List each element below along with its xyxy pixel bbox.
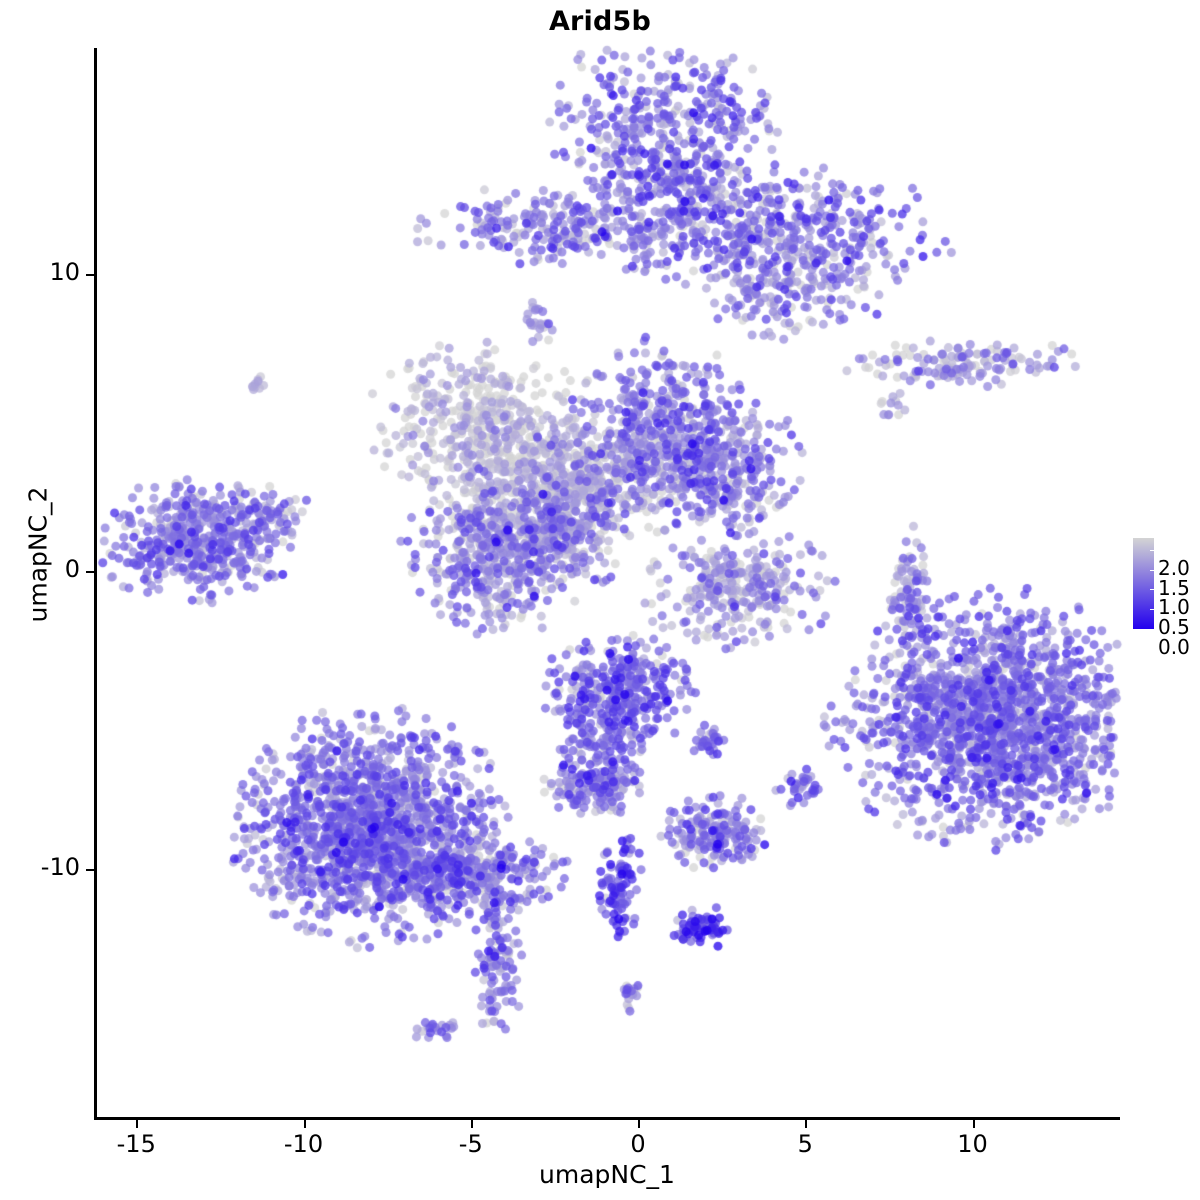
x-tick-mark [973, 1120, 975, 1128]
umap-feature-plot: Arid5b -15-10-50510 100-10 umapNC_1 umap… [0, 0, 1200, 1200]
x-tick-label: 0 [598, 1130, 678, 1158]
legend-tick-mark [1150, 570, 1155, 571]
x-tick-mark [638, 1120, 640, 1128]
plot-panel [94, 48, 1120, 1118]
color-legend[interactable]: 2.01.51.00.50.0 [1128, 536, 1200, 636]
x-tick-label: -15 [96, 1130, 176, 1158]
x-tick-label: 10 [933, 1130, 1013, 1158]
x-tick-mark [805, 1120, 807, 1128]
page-title: Arid5b [0, 6, 1200, 37]
x-axis-line [94, 1117, 1120, 1120]
x-tick-mark [471, 1120, 473, 1128]
legend-tick-label: 2.0 [1158, 558, 1190, 578]
y-axis-label: umapNC_2 [24, 455, 53, 655]
x-tick-label: 5 [765, 1130, 845, 1158]
y-tick-mark [86, 869, 94, 871]
x-tick-label: -5 [431, 1130, 511, 1158]
x-tick-label: -10 [264, 1130, 344, 1158]
x-tick-mark [304, 1120, 306, 1128]
x-axis-label: umapNC_1 [94, 1160, 1120, 1189]
legend-colorbar[interactable] [1133, 538, 1154, 629]
y-tick-mark [86, 571, 94, 573]
y-tick-mark [86, 274, 94, 276]
legend-tick-mark [1150, 589, 1155, 590]
legend-tick-mark [1150, 550, 1155, 551]
y-axis-line [94, 48, 97, 1120]
legend-tick-mark [1150, 609, 1155, 610]
x-tick-mark [136, 1120, 138, 1128]
legend-tick-label: 0.0 [1158, 637, 1190, 657]
legend-tick-mark [1150, 629, 1155, 630]
y-tick-label: -10 [0, 853, 80, 881]
y-tick-label: 10 [0, 258, 80, 286]
